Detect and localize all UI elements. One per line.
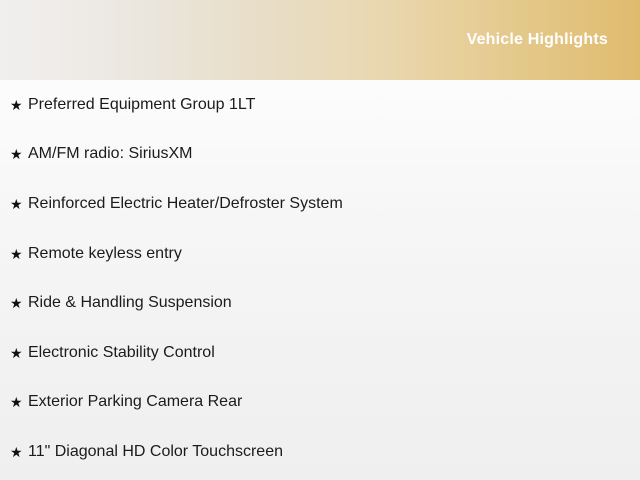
- highlight-label: Ride & Handling Suspension: [28, 293, 640, 313]
- highlights-list: ★ Preferred Equipment Group 1LT ★ AM/FM …: [0, 80, 640, 477]
- header-banner: Vehicle Highlights: [0, 0, 640, 80]
- highlight-label: Exterior Parking Camera Rear: [28, 392, 640, 412]
- page-title: Vehicle Highlights: [467, 30, 608, 50]
- star-icon: ★: [10, 445, 28, 459]
- star-icon: ★: [10, 147, 28, 161]
- highlight-label: Remote keyless entry: [28, 244, 640, 264]
- list-item: ★ Remote keyless entry: [0, 229, 640, 279]
- star-icon: ★: [10, 197, 28, 211]
- list-item: ★ Electronic Stability Control: [0, 328, 640, 378]
- highlight-label: Preferred Equipment Group 1LT: [28, 95, 640, 115]
- star-icon: ★: [10, 98, 28, 112]
- star-icon: ★: [10, 395, 28, 409]
- list-item: ★ Reinforced Electric Heater/Defroster S…: [0, 179, 640, 229]
- highlight-label: Reinforced Electric Heater/Defroster Sys…: [28, 194, 640, 214]
- star-icon: ★: [10, 296, 28, 310]
- list-item: ★ Exterior Parking Camera Rear: [0, 378, 640, 428]
- highlight-label: Electronic Stability Control: [28, 343, 640, 363]
- star-icon: ★: [10, 346, 28, 360]
- list-item: ★ 11" Diagonal HD Color Touchscreen: [0, 427, 640, 477]
- highlight-label: 11" Diagonal HD Color Touchscreen: [28, 442, 640, 462]
- highlight-label: AM/FM radio: SiriusXM: [28, 144, 640, 164]
- star-icon: ★: [10, 247, 28, 261]
- list-item: ★ Ride & Handling Suspension: [0, 278, 640, 328]
- list-item: ★ Preferred Equipment Group 1LT: [0, 80, 640, 130]
- vehicle-highlights-page: Vehicle Highlights ★ Preferred Equipment…: [0, 0, 640, 480]
- list-item: ★ AM/FM radio: SiriusXM: [0, 130, 640, 180]
